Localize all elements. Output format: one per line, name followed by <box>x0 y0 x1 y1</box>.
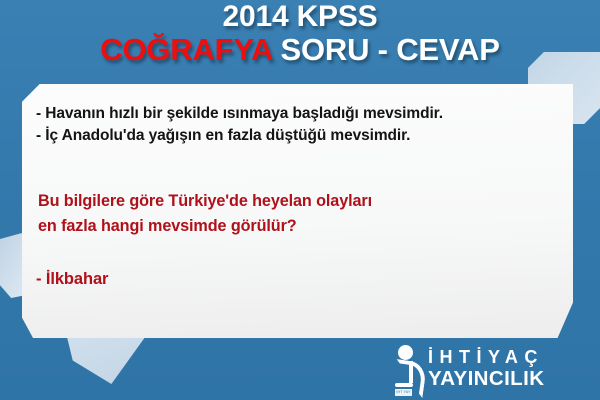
question-line-1: Bu bilgilere göre Türkiye'de heyelan ola… <box>38 189 558 214</box>
logo-brand-line-1: İHTİYAÇ <box>428 348 544 366</box>
person-stem-shape <box>409 361 413 383</box>
person-foot-shape <box>395 383 413 387</box>
clue-item-1: - Havanın hızlı bir şekilde ısınmaya baş… <box>36 103 556 125</box>
slide-header: 2014 KPSS COĞRAFYA SORU - CEVAP <box>0 2 600 65</box>
person-head-shape <box>398 345 413 360</box>
slide-canvas: 2014 KPSS COĞRAFYA SORU - CEVAP - Havanı… <box>0 0 600 400</box>
logo-brand-line-2: YAYINCILIK <box>428 369 544 390</box>
content-card: - Havanın hızlı bir şekilde ısınmaya baş… <box>22 84 573 338</box>
question-block: Bu bilgilere göre Türkiye'de heyelan ola… <box>38 189 558 239</box>
header-title-year-exam: 2014 KPSS <box>0 2 600 33</box>
answer-text: - İlkbahar <box>36 270 108 289</box>
logo-wordmark: İHTİYAÇ YAYINCILIK <box>428 348 544 390</box>
card-inner: - Havanın hızlı bir şekilde ısınmaya baş… <box>22 84 573 338</box>
header-subtitle: COĞRAFYA SORU - CEVAP <box>0 34 600 66</box>
publisher-logo: İHT YAY İHTİYAÇ YAYINCILIK <box>390 341 590 396</box>
person-figure-icon: İHT YAY <box>390 343 424 395</box>
logo-micro-label: İHT YAY <box>395 389 412 396</box>
clue-list: - Havanın hızlı bir şekilde ısınmaya baş… <box>36 103 556 148</box>
header-type-label: SORU - CEVAP <box>281 32 500 67</box>
clue-item-2: - İç Anadolu'da yağışın en fazla düştüğü… <box>36 125 556 147</box>
header-subject-label: COĞRAFYA <box>100 32 272 67</box>
question-line-2: en fazla hangi mevsimde görülür? <box>38 214 558 239</box>
